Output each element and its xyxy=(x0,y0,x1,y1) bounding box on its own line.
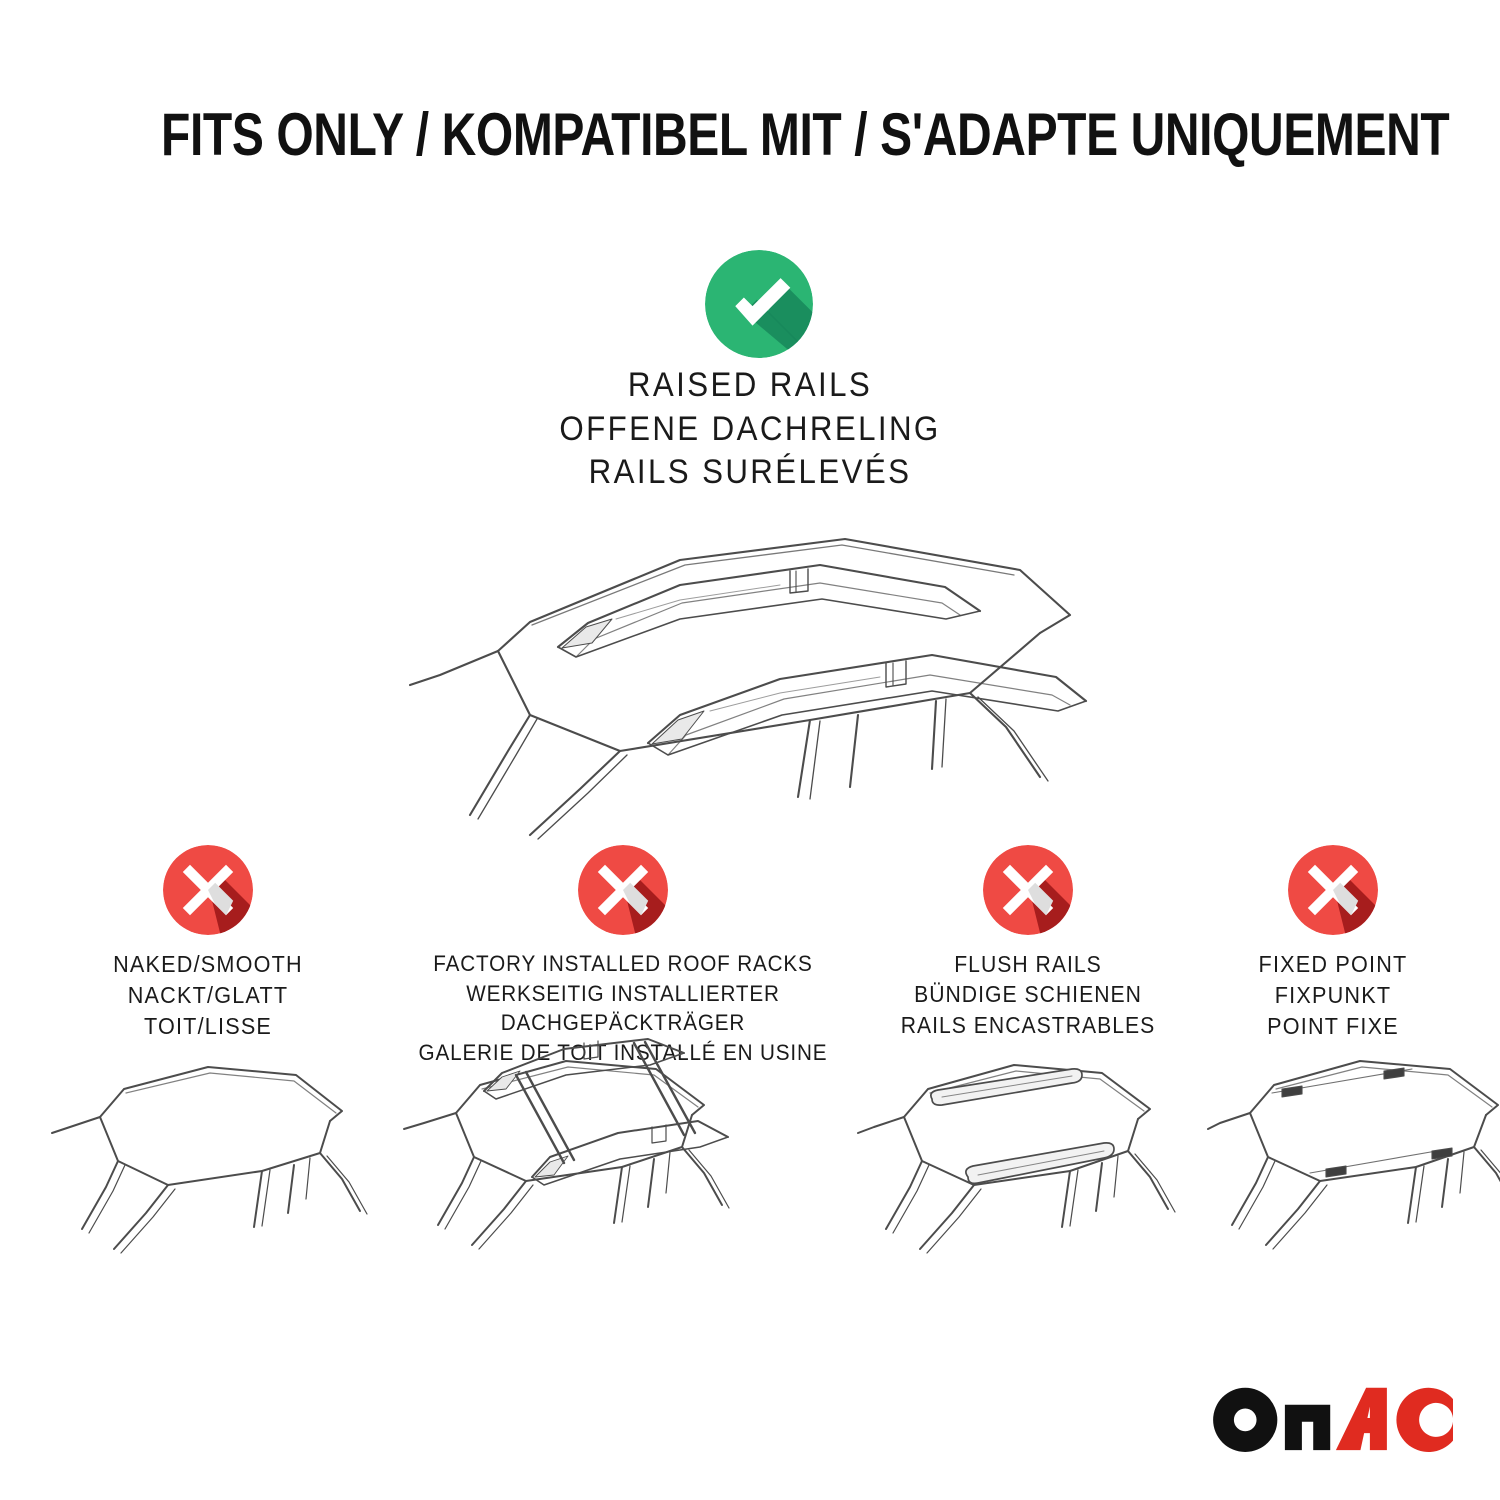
cross-circle-icon xyxy=(163,845,253,935)
label-line-1: FLUSH RAILS xyxy=(872,949,1185,979)
incompatible-labels-flush-rails: FLUSH RAILS BÜNDIGE SCHIENEN RAILS ENCAS… xyxy=(872,949,1185,1040)
omac-logo xyxy=(1210,1390,1458,1452)
omac-logo-mark xyxy=(1210,1384,1458,1452)
compatible-label-line-3: RAILS SURÉLEVÉS xyxy=(60,451,1440,495)
compatible-label-line-2: OFFENE DACHRELING xyxy=(60,408,1440,452)
label-line-1: FACTORY INSTALLED ROOF RACKS xyxy=(416,949,830,979)
car-roof-with-flush-rails-illustration xyxy=(858,1045,1198,1295)
label-line-3: POINT FIXE xyxy=(1218,1011,1448,1042)
label-line-2: WERKSEITIG INSTALLIERTER xyxy=(416,979,830,1009)
label-line-2: FIXPUNKT xyxy=(1218,980,1448,1011)
incompatible-column-factory-rack: FACTORY INSTALLED ROOF RACKS WERKSEITIG … xyxy=(398,845,848,1068)
car-roof-with-factory-rack-illustration xyxy=(398,1035,848,1297)
incompatible-labels-fixed-point: FIXED POINT FIXPUNKT POINT FIXE xyxy=(1218,949,1448,1042)
incompatible-column-fixed-point: FIXED POINT FIXPUNKT POINT FIXE xyxy=(1208,845,1458,1042)
label-line-1: NAKED/SMOOTH xyxy=(61,949,355,980)
incompatible-labels-naked-smooth: NAKED/SMOOTH NACKT/GLATT TOIT/LISSE xyxy=(61,949,355,1042)
compatible-label-line-1: RAISED RAILS xyxy=(60,364,1440,408)
compatible-section: RAISED RAILS OFFENE DACHRELING RAILS SUR… xyxy=(0,250,1500,495)
label-line-2: BÜNDIGE SCHIENEN xyxy=(872,979,1185,1009)
cross-circle-icon xyxy=(578,845,668,935)
page-title: FITS ONLY / KOMPATIBEL MIT / S'ADAPTE UN… xyxy=(161,105,1449,165)
label-line-3: DACHGEPÄCKTRÄGER xyxy=(416,1008,830,1038)
label-line-3: RAILS ENCASTRABLES xyxy=(872,1010,1185,1040)
check-circle-icon xyxy=(705,250,795,340)
car-roof-with-raised-rails-illustration xyxy=(380,515,1120,845)
cross-circle-icon xyxy=(1288,845,1378,935)
page-title-container: FITS ONLY / KOMPATIBEL MIT / S'ADAPTE UN… xyxy=(0,105,1500,165)
infographic-page: FITS ONLY / KOMPATIBEL MIT / S'ADAPTE UN… xyxy=(0,0,1500,1500)
car-roof-bare-smooth-illustration xyxy=(48,1045,368,1295)
incompatible-column-flush-rails: FLUSH RAILS BÜNDIGE SCHIENEN RAILS ENCAS… xyxy=(858,845,1198,1040)
label-line-3: TOIT/LISSE xyxy=(61,1011,355,1042)
cross-circle-icon xyxy=(983,845,1073,935)
incompatible-column-naked-smooth: NAKED/SMOOTH NACKT/GLATT TOIT/LISSE xyxy=(48,845,368,1042)
car-roof-with-fixed-points-illustration xyxy=(1208,1045,1458,1295)
label-line-2: NACKT/GLATT xyxy=(61,980,355,1011)
compatible-labels: RAISED RAILS OFFENE DACHRELING RAILS SUR… xyxy=(60,364,1440,495)
label-line-1: FIXED POINT xyxy=(1218,949,1448,980)
